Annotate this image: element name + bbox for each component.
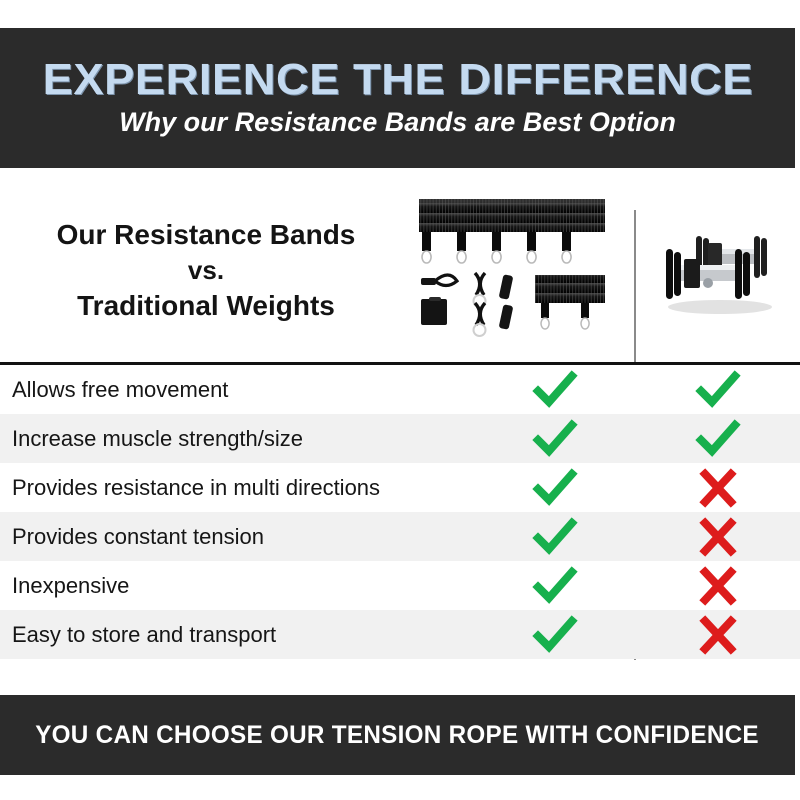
page-subtitle: Why our Resistance Bands are Best Option — [119, 108, 676, 138]
adjustable-dumbbells-icon — [650, 203, 790, 333]
heading-line-vs: vs. — [188, 254, 224, 287]
heading-line-1: Our Resistance Bands — [57, 217, 356, 252]
cross-icon — [695, 615, 741, 655]
check-icon — [532, 566, 578, 606]
cross-icon — [695, 468, 741, 508]
comparison-table: Allows free movement Increase muscle str… — [0, 365, 800, 659]
feature-label: Easy to store and transport — [12, 622, 276, 648]
check-icon — [532, 615, 578, 655]
check-icon — [695, 370, 741, 410]
table-row: Inexpensive — [0, 561, 800, 610]
table-row: Increase muscle strength/size — [0, 414, 800, 463]
feature-label: Inexpensive — [12, 573, 129, 599]
resistance-bands-set-icon — [415, 193, 620, 343]
door-anchor-icon — [421, 275, 457, 286]
heading-line-2: Traditional Weights — [77, 288, 335, 323]
feature-label: Provides resistance in multi directions — [12, 475, 380, 501]
cross-icon — [695, 566, 741, 606]
table-row: Easy to store and transport — [0, 610, 800, 659]
feature-label: Increase muscle strength/size — [12, 426, 303, 452]
ankle-strap-icon — [499, 274, 514, 300]
ankle-strap-icon-2 — [499, 304, 514, 330]
cross-icon — [695, 517, 741, 557]
top-banner: EXPERIENCE THE DIFFERENCE Why our Resist… — [0, 28, 795, 168]
check-icon — [532, 370, 578, 410]
infographic-page: EXPERIENCE THE DIFFERENCE Why our Resist… — [0, 0, 800, 800]
page-title: EXPERIENCE THE DIFFERENCE — [42, 58, 752, 102]
table-row: Provides constant tension — [0, 512, 800, 561]
feature-label: Allows free movement — [12, 377, 228, 403]
check-icon — [532, 517, 578, 557]
handle-icon — [475, 273, 485, 295]
footer-text: YOU CAN CHOOSE OUR TENSION ROPE WITH CON… — [36, 721, 760, 750]
table-row: Allows free movement — [0, 365, 800, 414]
table-row: Provides resistance in multi directions — [0, 463, 800, 512]
check-icon — [532, 468, 578, 508]
bottom-banner: YOU CAN CHOOSE OUR TENSION ROPE WITH CON… — [0, 695, 795, 775]
check-icon — [532, 419, 578, 459]
carry-pouch-icon — [421, 299, 447, 325]
left-column-heading: Our Resistance Bands vs. Traditional Wei… — [0, 185, 412, 355]
feature-label: Provides constant tension — [12, 524, 264, 550]
check-icon — [695, 419, 741, 459]
comparison-header-row: Our Resistance Bands vs. Traditional Wei… — [0, 185, 800, 363]
